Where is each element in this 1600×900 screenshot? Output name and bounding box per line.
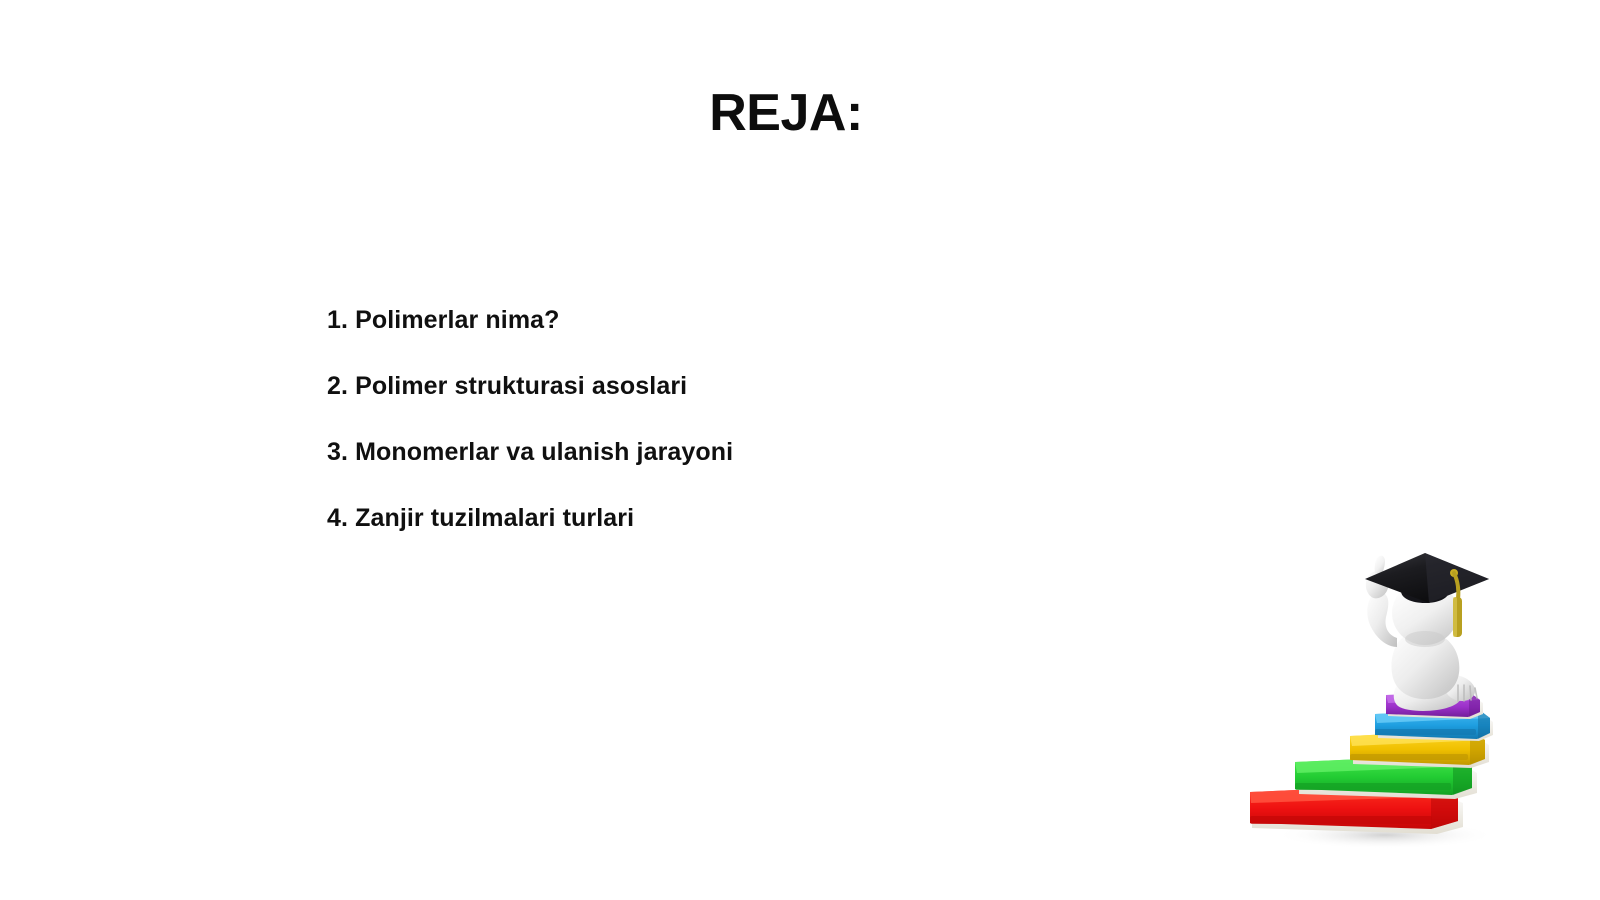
list-item: 2. Polimer strukturasi asoslari — [327, 374, 733, 399]
list-item: 3. Monomerlar va ulanish jarayoni — [327, 440, 733, 465]
graduate-on-books-illustration — [1225, 535, 1515, 855]
slide-canvas: REJA: 1. Polimerlar nima? 2. Polimer str… — [0, 0, 1600, 900]
list-item: 4. Zanjir tuzilmalari turlari — [327, 506, 733, 531]
list-item: 1. Polimerlar nima? — [327, 308, 733, 333]
page-title: REJA: — [0, 86, 1572, 141]
agenda-list: 1. Polimerlar nima? 2. Polimer struktura… — [327, 308, 733, 531]
figure-left-arm — [1367, 592, 1397, 647]
